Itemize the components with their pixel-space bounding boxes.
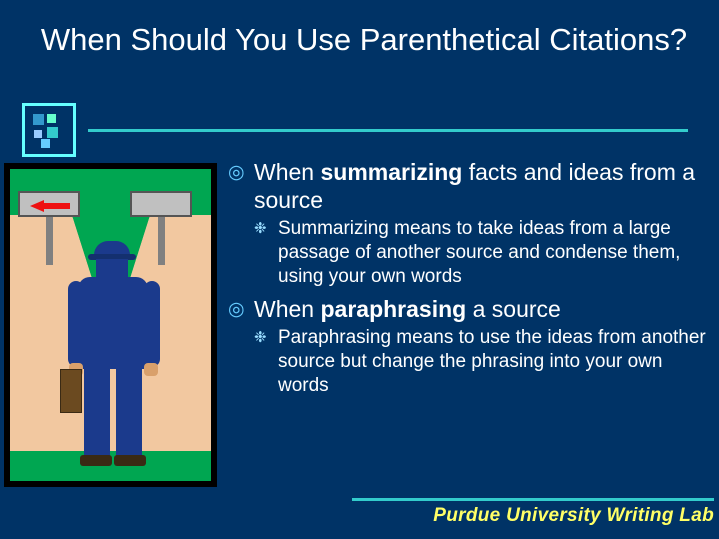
- person-shoe-left: [80, 455, 112, 466]
- bullet-level2: ❉ Summarizing means to take ideas from a…: [254, 217, 714, 289]
- logo-square-3: [47, 127, 58, 138]
- bullet-level2: ❉ Paraphrasing means to use the ideas fr…: [254, 326, 714, 398]
- briefcase-icon: [60, 369, 82, 413]
- logo-square-2: [47, 114, 56, 123]
- person-leg-right: [116, 365, 142, 457]
- bullet-marker-icon: ◎: [228, 159, 245, 187]
- bullet-level1: ◎ When summarizing facts and ideas from …: [228, 158, 714, 214]
- person-shoe-right: [114, 455, 146, 466]
- logo-square-4: [34, 130, 42, 138]
- bullet-level1-text: When paraphrasing a source: [254, 296, 561, 322]
- sub-bullet-marker-icon: ❉: [254, 217, 267, 241]
- page-title: When Should You Use Parenthetical Citati…: [34, 20, 694, 59]
- slide-body: ◎ When summarizing facts and ideas from …: [228, 158, 714, 404]
- bullet-marker-icon: ◎: [228, 296, 245, 324]
- sign-left: [18, 191, 80, 217]
- person-torso: [78, 277, 148, 369]
- logo-square-1: [33, 114, 44, 125]
- list-item: ◎ When summarizing facts and ideas from …: [228, 158, 714, 289]
- title-divider: [88, 129, 688, 132]
- bullet-level1-text: When summarizing facts and ideas from a …: [254, 159, 695, 213]
- footer-divider: [352, 498, 714, 501]
- sub-bullet-group: ❉ Summarizing means to take ideas from a…: [228, 217, 714, 289]
- slide-illustration: [4, 163, 217, 487]
- arrow-left-icon: [30, 200, 44, 212]
- bullet-level2-text: Summarizing means to take ideas from a l…: [278, 218, 680, 287]
- sub-bullet-group: ❉ Paraphrasing means to use the ideas fr…: [228, 326, 714, 398]
- person-leg-left: [84, 365, 110, 457]
- bullet-level2-text: Paraphrasing means to use the ideas from…: [278, 327, 706, 396]
- list-item: ◎ When paraphrasing a source ❉ Paraphras…: [228, 295, 714, 398]
- footer-label: Purdue University Writing Lab: [352, 505, 714, 527]
- bullet-list: ◎ When summarizing facts and ideas from …: [228, 158, 714, 398]
- decorative-logo-icon: [22, 103, 76, 157]
- signpost-left: [46, 209, 53, 265]
- emphasis-paraphrasing: paraphrasing: [320, 296, 466, 322]
- logo-square-5: [41, 139, 50, 148]
- illustration-canvas: [10, 169, 211, 481]
- emphasis-summarizing: summarizing: [320, 159, 462, 185]
- sign-right: [130, 191, 192, 217]
- sub-bullet-marker-icon: ❉: [254, 326, 267, 350]
- bullet-level1: ◎ When paraphrasing a source: [228, 295, 714, 323]
- person-hand-right: [144, 363, 158, 376]
- person-figure: [68, 241, 160, 471]
- person-head: [96, 259, 128, 279]
